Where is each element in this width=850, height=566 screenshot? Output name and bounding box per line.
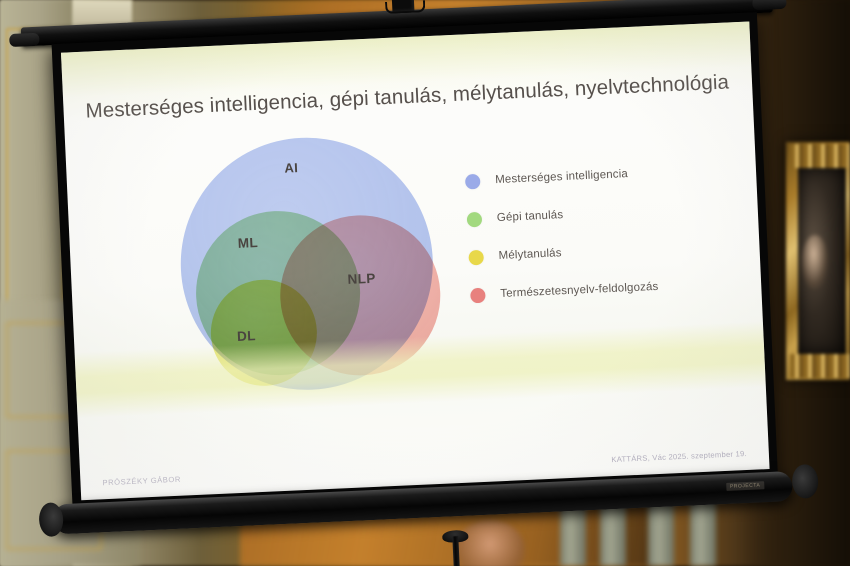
- frame-ornament-bottom: [790, 354, 850, 378]
- slide-footer-right: KATTÁRS, Vác 2025. szeptember 19.: [611, 449, 747, 464]
- venn-label-dl: DL: [237, 328, 256, 344]
- screen-wall-hook-icon: [392, 0, 415, 13]
- slide-footer-left: PRÓSZÉKY GÁBOR: [102, 475, 181, 488]
- legend-label: Mélytanulás: [498, 247, 561, 262]
- screen-casing-bracket-left: [9, 33, 40, 47]
- legend-swatch-icon: [468, 249, 484, 265]
- projector-screen-assembly: Mesterséges intelligencia, gépi tanulás,…: [21, 0, 804, 541]
- slide-title: Mesterséges intelligencia, gépi tanulás,…: [85, 70, 732, 123]
- legend-label: Gépi tanulás: [497, 209, 564, 224]
- portrait-canvas: [798, 168, 846, 354]
- venn-diagram: AI ML DL NLP: [175, 131, 458, 443]
- legend-swatch-icon: [467, 211, 483, 227]
- legend-swatch-icon: [470, 287, 486, 303]
- slide-legend: Mesterséges intelligencia Gépi tanulás M…: [464, 154, 659, 314]
- screen-casing-bracket-right: [752, 0, 787, 10]
- presentation-slide: Mesterséges intelligencia, gépi tanulás,…: [61, 21, 770, 500]
- legend-item: Természetesnyelv-feldolgozás: [470, 268, 660, 315]
- screen-black-border: Mesterséges intelligencia, gépi tanulás,…: [52, 12, 778, 509]
- frame-ornament-top: [790, 144, 850, 168]
- venn-label-nlp: NLP: [347, 271, 376, 287]
- legend-label: Természetesnyelv-feldolgozás: [500, 281, 659, 300]
- legend-label: Mesterséges intelligencia: [495, 168, 628, 186]
- venn-label-ai: AI: [284, 160, 298, 176]
- portrait-face: [802, 235, 828, 289]
- venn-label-ml: ML: [237, 235, 258, 251]
- legend-swatch-icon: [465, 173, 481, 189]
